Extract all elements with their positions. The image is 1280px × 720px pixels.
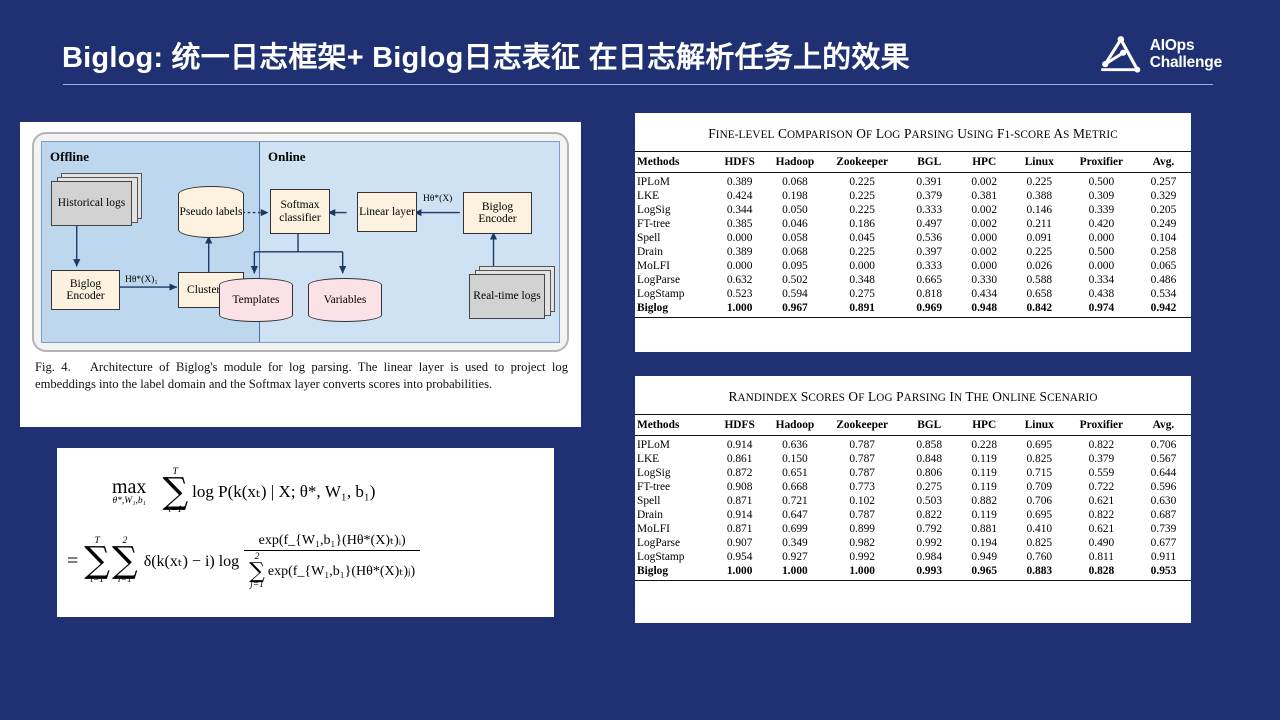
column-header-linux: Linux — [1012, 152, 1067, 173]
column-header-hdfs: HDFS — [712, 415, 767, 436]
cell-linux: 0.211 — [1012, 217, 1067, 231]
cell-linux: 0.695 — [1012, 435, 1067, 452]
cell-hdfs: 0.000 — [712, 259, 767, 273]
cell-avg: 0.911 — [1136, 550, 1191, 564]
cell-hpc: 0.228 — [957, 435, 1012, 452]
delta-term: δ(k(xₜ) − i) log — [144, 551, 239, 571]
cell-hadoop: 0.502 — [767, 273, 822, 287]
figure-number: Fig. 4. — [35, 360, 71, 374]
max-operator: max θ*,W₁,b₁ — [112, 477, 146, 507]
cell-bgl: 0.806 — [902, 466, 957, 480]
cell-hpc: 0.330 — [957, 273, 1012, 287]
table-2-body: IPLoM0.9140.6360.7870.8580.2280.6950.822… — [635, 435, 1191, 580]
sum-operator-line1: T ∑ t=1 — [162, 468, 188, 516]
column-header-bgl: BGL — [902, 152, 957, 173]
cell-hadoop: 0.349 — [767, 536, 822, 550]
cell-proxifier: 0.621 — [1067, 522, 1136, 536]
cell-hdfs: 0.424 — [712, 189, 767, 203]
aiops-challenge-logo: AIOps Challenge — [1097, 31, 1222, 79]
cell-bgl: 0.858 — [902, 435, 957, 452]
cell-method: Spell — [635, 494, 712, 508]
cell-hadoop: 0.050 — [767, 203, 822, 217]
formula-line1-body: log P(k(xₜ) | X; θ*, W₁, b₁) — [192, 482, 375, 502]
cell-proxifier: 0.379 — [1067, 452, 1136, 466]
cell-avg: 0.205 — [1136, 203, 1191, 217]
page-title: Biglog: 统一日志框架+ Biglog日志表征 在日志解析任务上的效果 — [62, 34, 910, 76]
cell-method: LKE — [635, 189, 712, 203]
table-row: FT-tree0.3850.0460.1860.4970.0020.2110.4… — [635, 217, 1191, 231]
formula-line-1: max θ*,W₁,b₁ T ∑ t=1 log P(k(xₜ) | X; θ*… — [112, 468, 375, 516]
cell-bgl: 0.275 — [902, 480, 957, 494]
cell-zookeeper: 0.992 — [823, 550, 902, 564]
cell-avg: 0.739 — [1136, 522, 1191, 536]
cell-bgl: 0.397 — [902, 245, 957, 259]
cell-bgl: 0.536 — [902, 231, 957, 245]
cell-method: LogSig — [635, 466, 712, 480]
cell-proxifier: 0.828 — [1067, 564, 1136, 581]
cell-method: FT-tree — [635, 217, 712, 231]
cell-linux: 0.588 — [1012, 273, 1067, 287]
column-header-hpc: HPC — [957, 152, 1012, 173]
cell-method: IPLoM — [635, 172, 712, 189]
cell-zookeeper: 0.102 — [823, 494, 902, 508]
cell-hpc: 0.002 — [957, 245, 1012, 259]
cell-hpc: 0.119 — [957, 452, 1012, 466]
cell-avg: 0.104 — [1136, 231, 1191, 245]
table-1-body: IPLoM0.3890.0680.2250.3910.0020.2250.500… — [635, 172, 1191, 317]
cell-proxifier: 0.000 — [1067, 259, 1136, 273]
cell-avg: 0.258 — [1136, 245, 1191, 259]
figure-caption-text: Architecture of Biglog's module for log … — [35, 360, 568, 391]
cell-bgl: 0.503 — [902, 494, 957, 508]
cell-hdfs: 0.523 — [712, 287, 767, 301]
cell-bgl: 0.333 — [902, 203, 957, 217]
table-row: LogSig0.3440.0500.2250.3330.0020.1460.33… — [635, 203, 1191, 217]
cell-hdfs: 0.871 — [712, 494, 767, 508]
cell-hdfs: 0.632 — [712, 273, 767, 287]
cell-hadoop: 0.058 — [767, 231, 822, 245]
cell-zookeeper: 0.787 — [823, 435, 902, 452]
cell-proxifier: 0.420 — [1067, 217, 1136, 231]
cell-linux: 0.658 — [1012, 287, 1067, 301]
cell-proxifier: 0.000 — [1067, 231, 1136, 245]
cell-proxifier: 0.811 — [1067, 550, 1136, 564]
title-divider — [63, 84, 1213, 85]
cell-method: LogSig — [635, 203, 712, 217]
cell-avg: 0.953 — [1136, 564, 1191, 581]
cell-proxifier: 0.500 — [1067, 245, 1136, 259]
cell-hdfs: 0.871 — [712, 522, 767, 536]
cell-method: MoLFI — [635, 259, 712, 273]
cell-hdfs: 0.872 — [712, 466, 767, 480]
logo-line-1: AIOps — [1150, 38, 1222, 55]
architecture-diagram: Offline Online Historical logs Biglog En… — [32, 132, 569, 352]
cell-hadoop: 0.594 — [767, 287, 822, 301]
cell-hadoop: 0.967 — [767, 301, 822, 318]
cell-zookeeper: 0.225 — [823, 189, 902, 203]
sum-operator-i: 2 ∑ i=1 — [112, 537, 138, 585]
cell-avg: 0.257 — [1136, 172, 1191, 189]
cell-proxifier: 0.309 — [1067, 189, 1136, 203]
cell-method: LogStamp — [635, 550, 712, 564]
sigma-glyph: ∑ — [162, 478, 188, 507]
cell-hadoop: 0.095 — [767, 259, 822, 273]
table-row: IPLoM0.9140.6360.7870.8580.2280.6950.822… — [635, 435, 1191, 452]
cell-method: LogParse — [635, 536, 712, 550]
table-row: Drain0.3890.0680.2250.3970.0020.2250.500… — [635, 245, 1191, 259]
cell-zookeeper: 0.899 — [823, 522, 902, 536]
cell-hdfs: 0.907 — [712, 536, 767, 550]
cell-proxifier: 0.722 — [1067, 480, 1136, 494]
cell-avg: 0.942 — [1136, 301, 1191, 318]
cell-bgl: 0.848 — [902, 452, 957, 466]
cell-hdfs: 0.861 — [712, 452, 767, 466]
cell-bgl: 0.665 — [902, 273, 957, 287]
formula-content: max θ*,W₁,b₁ T ∑ t=1 log P(k(xₜ) | X; θ*… — [57, 448, 554, 617]
cell-bgl: 0.992 — [902, 536, 957, 550]
cell-avg: 0.706 — [1136, 435, 1191, 452]
cell-avg: 0.596 — [1136, 480, 1191, 494]
table-header-row: MethodsHDFSHadoopZookeeperBGLHPCLinuxPro… — [635, 415, 1191, 436]
cell-hpc: 0.194 — [957, 536, 1012, 550]
column-header-methods: Methods — [635, 415, 712, 436]
cell-zookeeper: 0.225 — [823, 245, 902, 259]
cell-bgl: 0.993 — [902, 564, 957, 581]
cell-method: Spell — [635, 231, 712, 245]
cell-hdfs: 0.908 — [712, 480, 767, 494]
cell-bgl: 0.497 — [902, 217, 957, 231]
f1-score-table: MethodsHDFSHadoopZookeeperBGLHPCLinuxPro… — [635, 151, 1191, 318]
cell-proxifier: 0.822 — [1067, 435, 1136, 452]
cell-avg: 0.065 — [1136, 259, 1191, 273]
table-row: LogStamp0.5230.5940.2750.8180.4340.6580.… — [635, 287, 1191, 301]
cell-linux: 0.225 — [1012, 172, 1067, 189]
sigma-glyph: ∑ — [84, 547, 110, 576]
cell-zookeeper: 0.787 — [823, 452, 902, 466]
cell-hpc: 0.965 — [957, 564, 1012, 581]
cell-bgl: 0.391 — [902, 172, 957, 189]
table-row: IPLoM0.3890.0680.2250.3910.0020.2250.500… — [635, 172, 1191, 189]
node-variables: Variables — [308, 278, 382, 322]
objective-formula-panel: max θ*,W₁,b₁ T ∑ t=1 log P(k(xₜ) | X; θ*… — [57, 448, 554, 617]
cell-hadoop: 0.198 — [767, 189, 822, 203]
table-row: Spell0.0000.0580.0450.5360.0000.0910.000… — [635, 231, 1191, 245]
cell-avg: 0.567 — [1136, 452, 1191, 466]
node-pseudo-labels: Pseudo labels — [178, 186, 244, 238]
cell-hadoop: 0.150 — [767, 452, 822, 466]
cell-hpc: 0.948 — [957, 301, 1012, 318]
cell-linux: 0.410 — [1012, 522, 1067, 536]
cell-method: LKE — [635, 452, 712, 466]
cell-hadoop: 1.000 — [767, 564, 822, 581]
column-header-bgl: BGL — [902, 415, 957, 436]
cell-linux: 0.709 — [1012, 480, 1067, 494]
cell-method: MoLFI — [635, 522, 712, 536]
table-row: Biglog1.0000.9670.8910.9690.9480.8420.97… — [635, 301, 1191, 318]
cell-avg: 0.687 — [1136, 508, 1191, 522]
cell-proxifier: 0.621 — [1067, 494, 1136, 508]
cell-hpc: 0.002 — [957, 172, 1012, 189]
column-header-hdfs: HDFS — [712, 152, 767, 173]
cell-hadoop: 0.699 — [767, 522, 822, 536]
offline-section-label: Offline — [50, 149, 89, 165]
cell-proxifier: 0.438 — [1067, 287, 1136, 301]
cell-hdfs: 0.389 — [712, 172, 767, 189]
cell-zookeeper: 0.982 — [823, 536, 902, 550]
cell-zookeeper: 0.225 — [823, 203, 902, 217]
sigma-glyph: ∑ — [112, 547, 138, 576]
cell-linux: 0.825 — [1012, 536, 1067, 550]
cell-method: FT-tree — [635, 480, 712, 494]
table-row: LogSig0.8720.6510.7870.8060.1190.7150.55… — [635, 466, 1191, 480]
formula-line-2: = T ∑ t=1 2 ∑ i=1 δ(k(xₜ) − i) log exp(f… — [67, 532, 420, 591]
cell-method: Drain — [635, 245, 712, 259]
cell-hadoop: 0.068 — [767, 172, 822, 189]
cell-zookeeper: 0.000 — [823, 259, 902, 273]
cell-zookeeper: 0.275 — [823, 287, 902, 301]
slide-header: Biglog: 统一日志框架+ Biglog日志表征 在日志解析任务上的效果 A… — [0, 0, 1280, 100]
cell-linux: 0.225 — [1012, 245, 1067, 259]
cell-hadoop: 0.636 — [767, 435, 822, 452]
architecture-canvas: Offline Online Historical logs Biglog En… — [41, 141, 560, 343]
cell-bgl: 0.984 — [902, 550, 957, 564]
cell-linux: 0.842 — [1012, 301, 1067, 318]
cell-proxifier: 0.500 — [1067, 172, 1136, 189]
table-2-title: RANDINDEX SCORES OF LOG PARSING IN THE O… — [635, 376, 1191, 405]
column-header-methods: Methods — [635, 152, 712, 173]
cell-avg: 0.644 — [1136, 466, 1191, 480]
sum-operator-t: T ∑ t=1 — [84, 537, 110, 585]
cell-hpc: 0.882 — [957, 494, 1012, 508]
slide-root: Biglog: 统一日志框架+ Biglog日志表征 在日志解析任务上的效果 A… — [0, 0, 1280, 720]
cell-avg: 0.329 — [1136, 189, 1191, 203]
table-1-title: FINE-LEVEL COMPARISON OF LOG PARSING USI… — [635, 113, 1191, 142]
cell-hadoop: 0.647 — [767, 508, 822, 522]
fraction-numerator: exp(f_{W₁,b₁}(Hθ*(X)ₜ)ᵢ) — [254, 532, 411, 550]
cell-hpc: 0.000 — [957, 231, 1012, 245]
figure-caption: Fig. 4. Architecture of Biglog's module … — [35, 359, 568, 392]
cell-hdfs: 0.914 — [712, 435, 767, 452]
cell-avg: 0.249 — [1136, 217, 1191, 231]
table-row: MoLFI0.8710.6990.8990.7920.8810.4100.621… — [635, 522, 1191, 536]
cell-linux: 0.706 — [1012, 494, 1067, 508]
cell-method: Biglog — [635, 301, 712, 318]
cell-zookeeper: 1.000 — [823, 564, 902, 581]
node-historical-logs: Historical logs — [51, 181, 132, 226]
cell-method: LogParse — [635, 273, 712, 287]
cell-method: LogStamp — [635, 287, 712, 301]
cell-linux: 0.091 — [1012, 231, 1067, 245]
column-header-hpc: HPC — [957, 415, 1012, 436]
cell-hdfs: 0.344 — [712, 203, 767, 217]
table-header-row: MethodsHDFSHadoopZookeeperBGLHPCLinuxPro… — [635, 152, 1191, 173]
cell-hdfs: 0.385 — [712, 217, 767, 231]
node-softmax-classifier: Softmax classifier — [270, 189, 330, 234]
table-row: FT-tree0.9080.6680.7730.2750.1190.7090.7… — [635, 480, 1191, 494]
node-biglog-encoder-online: Biglog Encoder — [463, 192, 532, 234]
randindex-table: MethodsHDFSHadoopZookeeperBGLHPCLinuxPro… — [635, 414, 1191, 581]
cell-avg: 0.630 — [1136, 494, 1191, 508]
table-row: MoLFI0.0000.0950.0000.3330.0000.0260.000… — [635, 259, 1191, 273]
cell-hpc: 0.119 — [957, 466, 1012, 480]
edge-label-online-embedding: Hθ*(X) — [423, 194, 452, 204]
cell-zookeeper: 0.787 — [823, 508, 902, 522]
table-row: LogParse0.6320.5020.3480.6650.3300.5880.… — [635, 273, 1191, 287]
cell-hdfs: 1.000 — [712, 301, 767, 318]
online-section-label: Online — [268, 149, 306, 165]
sum-operator-j: 2 ∑ j=1 — [249, 553, 265, 591]
cell-bgl: 0.818 — [902, 287, 957, 301]
cell-proxifier: 0.559 — [1067, 466, 1136, 480]
cell-hdfs: 0.000 — [712, 231, 767, 245]
table-row: LogParse0.9070.3490.9820.9920.1940.8250.… — [635, 536, 1191, 550]
edge-label-offline-embedding: Hθ*(X)₁ — [125, 275, 158, 285]
cell-hadoop: 0.068 — [767, 245, 822, 259]
cell-linux: 0.388 — [1012, 189, 1067, 203]
randindex-table-panel: RANDINDEX SCORES OF LOG PARSING IN THE O… — [635, 376, 1191, 623]
architecture-figure-panel: Offline Online Historical logs Biglog En… — [20, 122, 581, 427]
cell-zookeeper: 0.891 — [823, 301, 902, 318]
cell-hpc: 0.434 — [957, 287, 1012, 301]
fraction-denominator-wrap: 2 ∑ j=1 exp(f_{W₁,b₁}(Hθ*(X)ₜ)ⱼ) — [244, 550, 420, 591]
cell-proxifier: 0.974 — [1067, 301, 1136, 318]
softmax-fraction: exp(f_{W₁,b₁}(Hθ*(X)ₜ)ᵢ) 2 ∑ j=1 exp(f_{… — [244, 532, 420, 591]
cell-zookeeper: 0.348 — [823, 273, 902, 287]
table-row: LogStamp0.9540.9270.9920.9840.9490.7600.… — [635, 550, 1191, 564]
cell-avg: 0.534 — [1136, 287, 1191, 301]
cell-hpc: 0.881 — [957, 522, 1012, 536]
cell-avg: 0.486 — [1136, 273, 1191, 287]
cell-hpc: 0.000 — [957, 259, 1012, 273]
cell-hpc: 0.949 — [957, 550, 1012, 564]
cell-hadoop: 0.927 — [767, 550, 822, 564]
cell-proxifier: 0.334 — [1067, 273, 1136, 287]
cell-method: Drain — [635, 508, 712, 522]
cell-linux: 0.715 — [1012, 466, 1067, 480]
cell-bgl: 0.379 — [902, 189, 957, 203]
cell-bgl: 0.333 — [902, 259, 957, 273]
cell-proxifier: 0.339 — [1067, 203, 1136, 217]
column-header-linux: Linux — [1012, 415, 1067, 436]
table-row: LKE0.4240.1980.2250.3790.3810.3880.3090.… — [635, 189, 1191, 203]
fraction-denominator: exp(f_{W₁,b₁}(Hθ*(X)ₜ)ⱼ) — [268, 563, 415, 580]
cell-hdfs: 0.389 — [712, 245, 767, 259]
cell-hpc: 0.002 — [957, 217, 1012, 231]
column-header-proxifier: Proxifier — [1067, 152, 1136, 173]
cell-method: IPLoM — [635, 435, 712, 452]
column-header-hadoop: Hadoop — [767, 415, 822, 436]
cell-hpc: 0.002 — [957, 203, 1012, 217]
cell-avg: 0.677 — [1136, 536, 1191, 550]
cell-hpc: 0.381 — [957, 189, 1012, 203]
cell-hadoop: 0.651 — [767, 466, 822, 480]
cell-linux: 0.825 — [1012, 452, 1067, 466]
column-header-proxifier: Proxifier — [1067, 415, 1136, 436]
cell-linux: 0.883 — [1012, 564, 1067, 581]
cell-hpc: 0.119 — [957, 508, 1012, 522]
column-header-avg: Avg. — [1136, 415, 1191, 436]
column-header-avg: Avg. — [1136, 152, 1191, 173]
logo-line-2: Challenge — [1150, 55, 1222, 72]
cell-zookeeper: 0.787 — [823, 466, 902, 480]
cell-bgl: 0.792 — [902, 522, 957, 536]
cell-hdfs: 0.914 — [712, 508, 767, 522]
cell-linux: 0.026 — [1012, 259, 1067, 273]
column-header-zookeeper: Zookeeper — [823, 152, 902, 173]
cell-hadoop: 0.046 — [767, 217, 822, 231]
node-linear-layer: Linear layer — [357, 192, 417, 232]
cell-zookeeper: 0.186 — [823, 217, 902, 231]
column-header-hadoop: Hadoop — [767, 152, 822, 173]
node-templates: Templates — [219, 278, 293, 322]
cell-hdfs: 0.954 — [712, 550, 767, 564]
cell-linux: 0.146 — [1012, 203, 1067, 217]
aiops-triangle-logo-icon — [1097, 33, 1141, 77]
table-row: Biglog1.0001.0001.0000.9930.9650.8830.82… — [635, 564, 1191, 581]
cell-method: Biglog — [635, 564, 712, 581]
node-realtime-logs: Real-time logs — [469, 274, 545, 319]
table-row: Drain0.9140.6470.7870.8220.1190.6950.822… — [635, 508, 1191, 522]
table-row: LKE0.8610.1500.7870.8480.1190.8250.3790.… — [635, 452, 1191, 466]
cell-bgl: 0.969 — [902, 301, 957, 318]
cell-proxifier: 0.490 — [1067, 536, 1136, 550]
cell-proxifier: 0.822 — [1067, 508, 1136, 522]
table-1-header: MethodsHDFSHadoopZookeeperBGLHPCLinuxPro… — [635, 152, 1191, 173]
sigma-glyph: ∑ — [249, 563, 265, 582]
table-2-header: MethodsHDFSHadoopZookeeperBGLHPCLinuxPro… — [635, 415, 1191, 436]
cell-zookeeper: 0.225 — [823, 172, 902, 189]
cell-zookeeper: 0.045 — [823, 231, 902, 245]
table-row: Spell0.8710.7210.1020.5030.8820.7060.621… — [635, 494, 1191, 508]
cell-linux: 0.695 — [1012, 508, 1067, 522]
column-header-zookeeper: Zookeeper — [823, 415, 902, 436]
cell-hadoop: 0.668 — [767, 480, 822, 494]
cell-zookeeper: 0.773 — [823, 480, 902, 494]
cell-bgl: 0.822 — [902, 508, 957, 522]
equals-sign: = — [67, 550, 78, 573]
node-biglog-encoder-offline: Biglog Encoder — [51, 270, 120, 310]
f1-score-table-panel: FINE-LEVEL COMPARISON OF LOG PARSING USI… — [635, 113, 1191, 352]
cell-hdfs: 1.000 — [712, 564, 767, 581]
cell-hpc: 0.119 — [957, 480, 1012, 494]
logo-wordmark: AIOps Challenge — [1150, 38, 1222, 71]
cell-linux: 0.760 — [1012, 550, 1067, 564]
cell-hadoop: 0.721 — [767, 494, 822, 508]
